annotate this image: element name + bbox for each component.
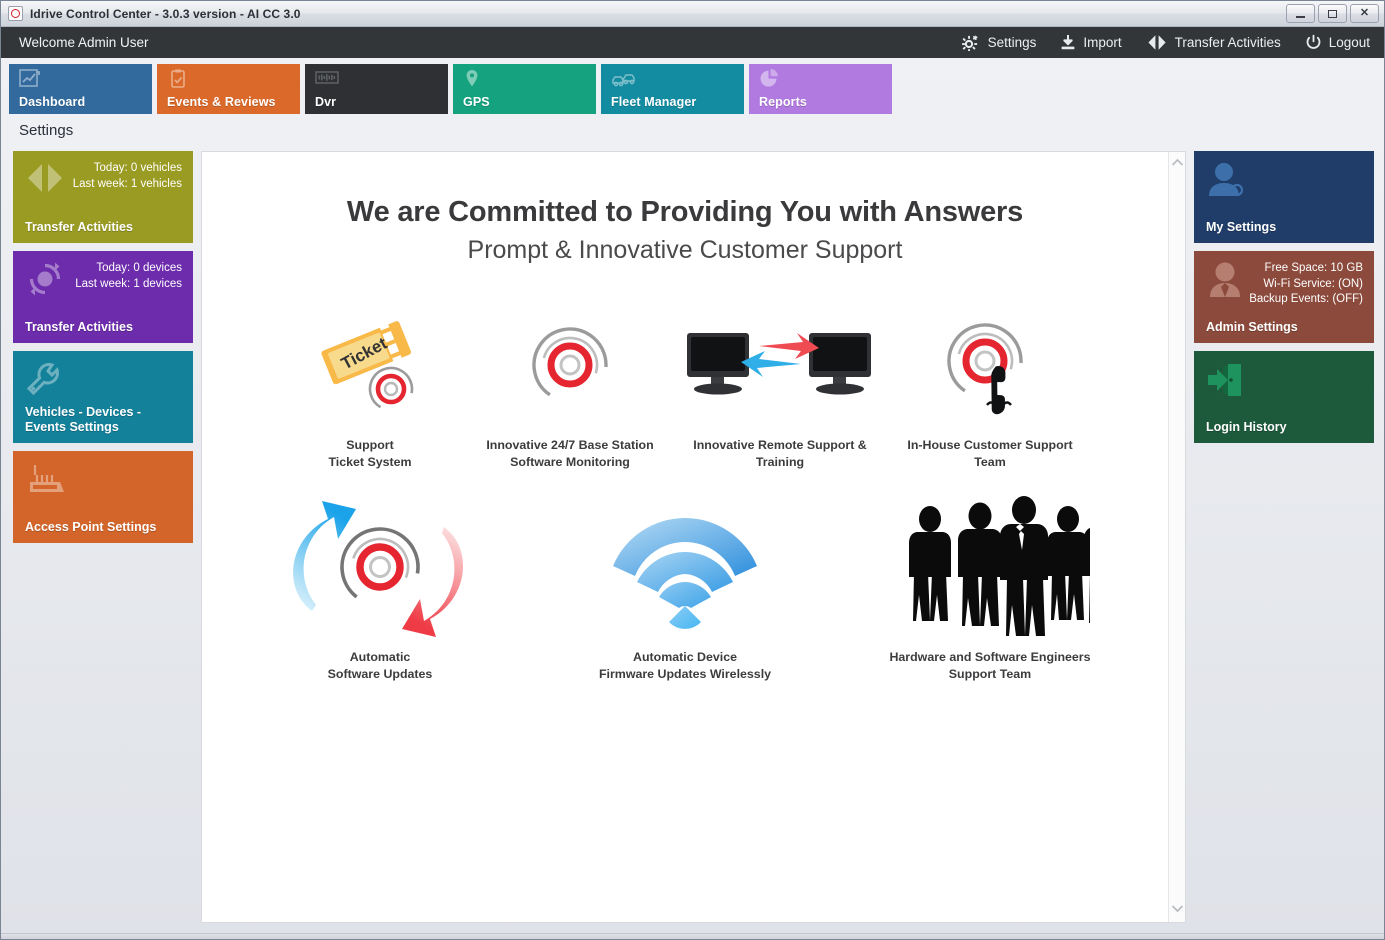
admin-user-icon (1206, 261, 1244, 304)
feature-support-ticket-system: Ticket Support Ticket S (275, 309, 465, 471)
window-title: Idrive Control Center - 3.0.3 version - … (30, 7, 301, 21)
left-rail: Today: 0 vehicles Last week: 1 vehicles … (13, 151, 193, 923)
chart-line-icon (19, 69, 41, 89)
breadcrumb: Settings (19, 122, 73, 139)
feature-remote-support-training: Innovative Remote Support & Training (675, 309, 885, 471)
scroll-down-arrow[interactable] (1171, 904, 1184, 916)
stat-line: Backup Events: (OFF) (1249, 292, 1363, 308)
power-icon (1305, 34, 1322, 51)
stat-line: Today: 0 vehicles (73, 161, 182, 177)
router-icon (25, 461, 69, 502)
feature-caption: Innovative Remote Support & Training (693, 437, 867, 471)
feature-engineers-support-team: Hardware and Software Engineers Support … (838, 493, 1143, 683)
maximize-button[interactable] (1318, 4, 1347, 23)
content-panel: We are Committed to Providing You with A… (201, 151, 1186, 923)
target-radar-icon (520, 309, 620, 421)
transfer-activities-button[interactable]: Transfer Activities (1146, 34, 1281, 51)
tile-title: Transfer Activities (25, 320, 185, 335)
tab-label: Dashboard (19, 95, 85, 109)
feature-in-house-support-team: In-House Customer Support Team (885, 309, 1095, 471)
tile-transfer-activities-devices[interactable]: Today: 0 devices Last week: 1 devices Tr… (13, 251, 193, 343)
tile-title: Vehicles - Devices - Events Settings (25, 405, 185, 435)
wifi-icon (605, 493, 765, 643)
feature-caption: Innovative 24/7 Base Station Software Mo… (486, 437, 653, 471)
close-button[interactable]: ✕ (1350, 4, 1379, 23)
tile-title: My Settings (1206, 220, 1366, 235)
tab-events-reviews[interactable]: Events & Reviews (157, 64, 300, 114)
stat-line: Today: 0 devices (75, 261, 182, 277)
right-rail: My Settings Free Space: 10 GB Wi-Fi Serv… (1194, 151, 1374, 923)
team-silhouette-icon (890, 493, 1090, 643)
tile-title: Access Point Settings (25, 520, 185, 535)
page-subheadline: Prompt & Innovative Customer Support (222, 236, 1148, 265)
page-headline: We are Committed to Providing You with A… (222, 196, 1148, 229)
tab-dashboard[interactable]: Dashboard (9, 64, 152, 114)
settings-button[interactable]: Settings (962, 34, 1037, 51)
transfer-activities-label: Transfer Activities (1175, 35, 1281, 50)
minimize-button[interactable] (1286, 4, 1315, 23)
tab-dvr[interactable]: Dvr (305, 64, 448, 114)
clipboard-check-icon (167, 69, 189, 89)
tab-reports[interactable]: Reports (749, 64, 892, 114)
scroll-up-arrow[interactable] (1171, 158, 1184, 170)
tab-gps[interactable]: GPS (453, 64, 596, 114)
tile-login-history[interactable]: Login History (1194, 351, 1374, 443)
tile-stats: Today: 0 vehicles Last week: 1 vehicles (73, 161, 182, 192)
tile-title: Admin Settings (1206, 320, 1366, 335)
feature-caption: Automatic Device Firmware Updates Wirele… (599, 649, 771, 683)
tile-access-point-settings[interactable]: Access Point Settings (13, 451, 193, 543)
sync-device-icon (25, 261, 65, 302)
support-ticket-icon: Ticket (317, 309, 423, 421)
content-scroll-area: We are Committed to Providing You with A… (202, 152, 1168, 922)
tile-stats: Free Space: 10 GB Wi-Fi Service: (ON) Ba… (1249, 261, 1363, 308)
stat-line: Last week: 1 vehicles (73, 177, 182, 193)
window-controls: ✕ (1286, 4, 1381, 23)
refresh-target-icon (290, 493, 470, 643)
tile-title: Login History (1206, 420, 1366, 435)
feature-caption: Support Ticket System (328, 437, 411, 471)
target-phone-icon (935, 309, 1045, 421)
wrench-icon (25, 361, 67, 402)
feature-firmware-updates-wirelessly: Automatic Device Firmware Updates Wirele… (533, 493, 838, 683)
login-door-icon (1206, 361, 1246, 404)
tab-fleet-manager[interactable]: Fleet Manager (601, 64, 744, 114)
stat-line: Last week: 1 devices (75, 277, 182, 293)
feature-row-2: Automatic Software Updates (222, 493, 1148, 683)
tile-stats: Today: 0 devices Last week: 1 devices (75, 261, 182, 292)
module-tab-strip: Dashboard Events & Reviews (1, 58, 1384, 114)
pie-chart-icon (759, 69, 781, 89)
app-logo-icon (8, 6, 23, 21)
title-bar: Idrive Control Center - 3.0.3 version - … (1, 1, 1384, 27)
remote-monitors-icon (685, 309, 875, 421)
user-settings-icon (1206, 161, 1246, 204)
vehicles-icon (611, 69, 633, 89)
map-pin-icon (463, 69, 485, 89)
app-window: Idrive Control Center - 3.0.3 version - … (0, 0, 1385, 940)
gears-icon (962, 34, 981, 51)
tile-title: Transfer Activities (25, 220, 185, 235)
breadcrumb-bar: Settings (1, 114, 1384, 146)
tab-label: Reports (759, 95, 807, 109)
feature-caption: Automatic Software Updates (328, 649, 433, 683)
transfer-arrows-icon (25, 161, 65, 200)
top-menu-bar: Welcome Admin User (1, 27, 1384, 58)
logout-button[interactable]: Logout (1305, 34, 1370, 51)
dvr-icon (315, 69, 337, 89)
feature-caption: In-House Customer Support Team (907, 437, 1072, 471)
import-button[interactable]: Import (1060, 34, 1121, 51)
tile-transfer-activities-vehicles[interactable]: Today: 0 vehicles Last week: 1 vehicles … (13, 151, 193, 243)
transfer-arrows-icon (1146, 34, 1168, 51)
top-actions: Settings Import Transf (962, 34, 1370, 51)
settings-label: Settings (988, 35, 1037, 50)
download-icon (1060, 34, 1076, 51)
welcome-text: Welcome Admin User (19, 35, 149, 50)
feature-automatic-software-updates: Automatic Software Updates (228, 493, 533, 683)
tile-my-settings[interactable]: My Settings (1194, 151, 1374, 243)
logout-label: Logout (1329, 35, 1370, 50)
tab-label: GPS (463, 95, 490, 109)
stat-line: Wi-Fi Service: (ON) (1249, 277, 1363, 293)
feature-row-1: Ticket Support Ticket S (222, 309, 1148, 471)
tab-label: Events & Reviews (167, 95, 276, 109)
tab-label: Dvr (315, 95, 336, 109)
tile-admin-settings[interactable]: Free Space: 10 GB Wi-Fi Service: (ON) Ba… (1194, 251, 1374, 343)
tile-vehicles-devices-events-settings[interactable]: Vehicles - Devices - Events Settings (13, 351, 193, 443)
main-body: Today: 0 vehicles Last week: 1 vehicles … (1, 146, 1384, 933)
bottom-status-strip (1, 933, 1384, 939)
feature-caption: Hardware and Software Engineers Support … (889, 649, 1090, 683)
import-label: Import (1083, 35, 1121, 50)
feature-base-station-monitoring: Innovative 24/7 Base Station Software Mo… (465, 309, 675, 471)
stat-line: Free Space: 10 GB (1249, 261, 1363, 277)
tab-label: Fleet Manager (611, 95, 696, 109)
content-vertical-scrollbar[interactable] (1168, 152, 1185, 922)
